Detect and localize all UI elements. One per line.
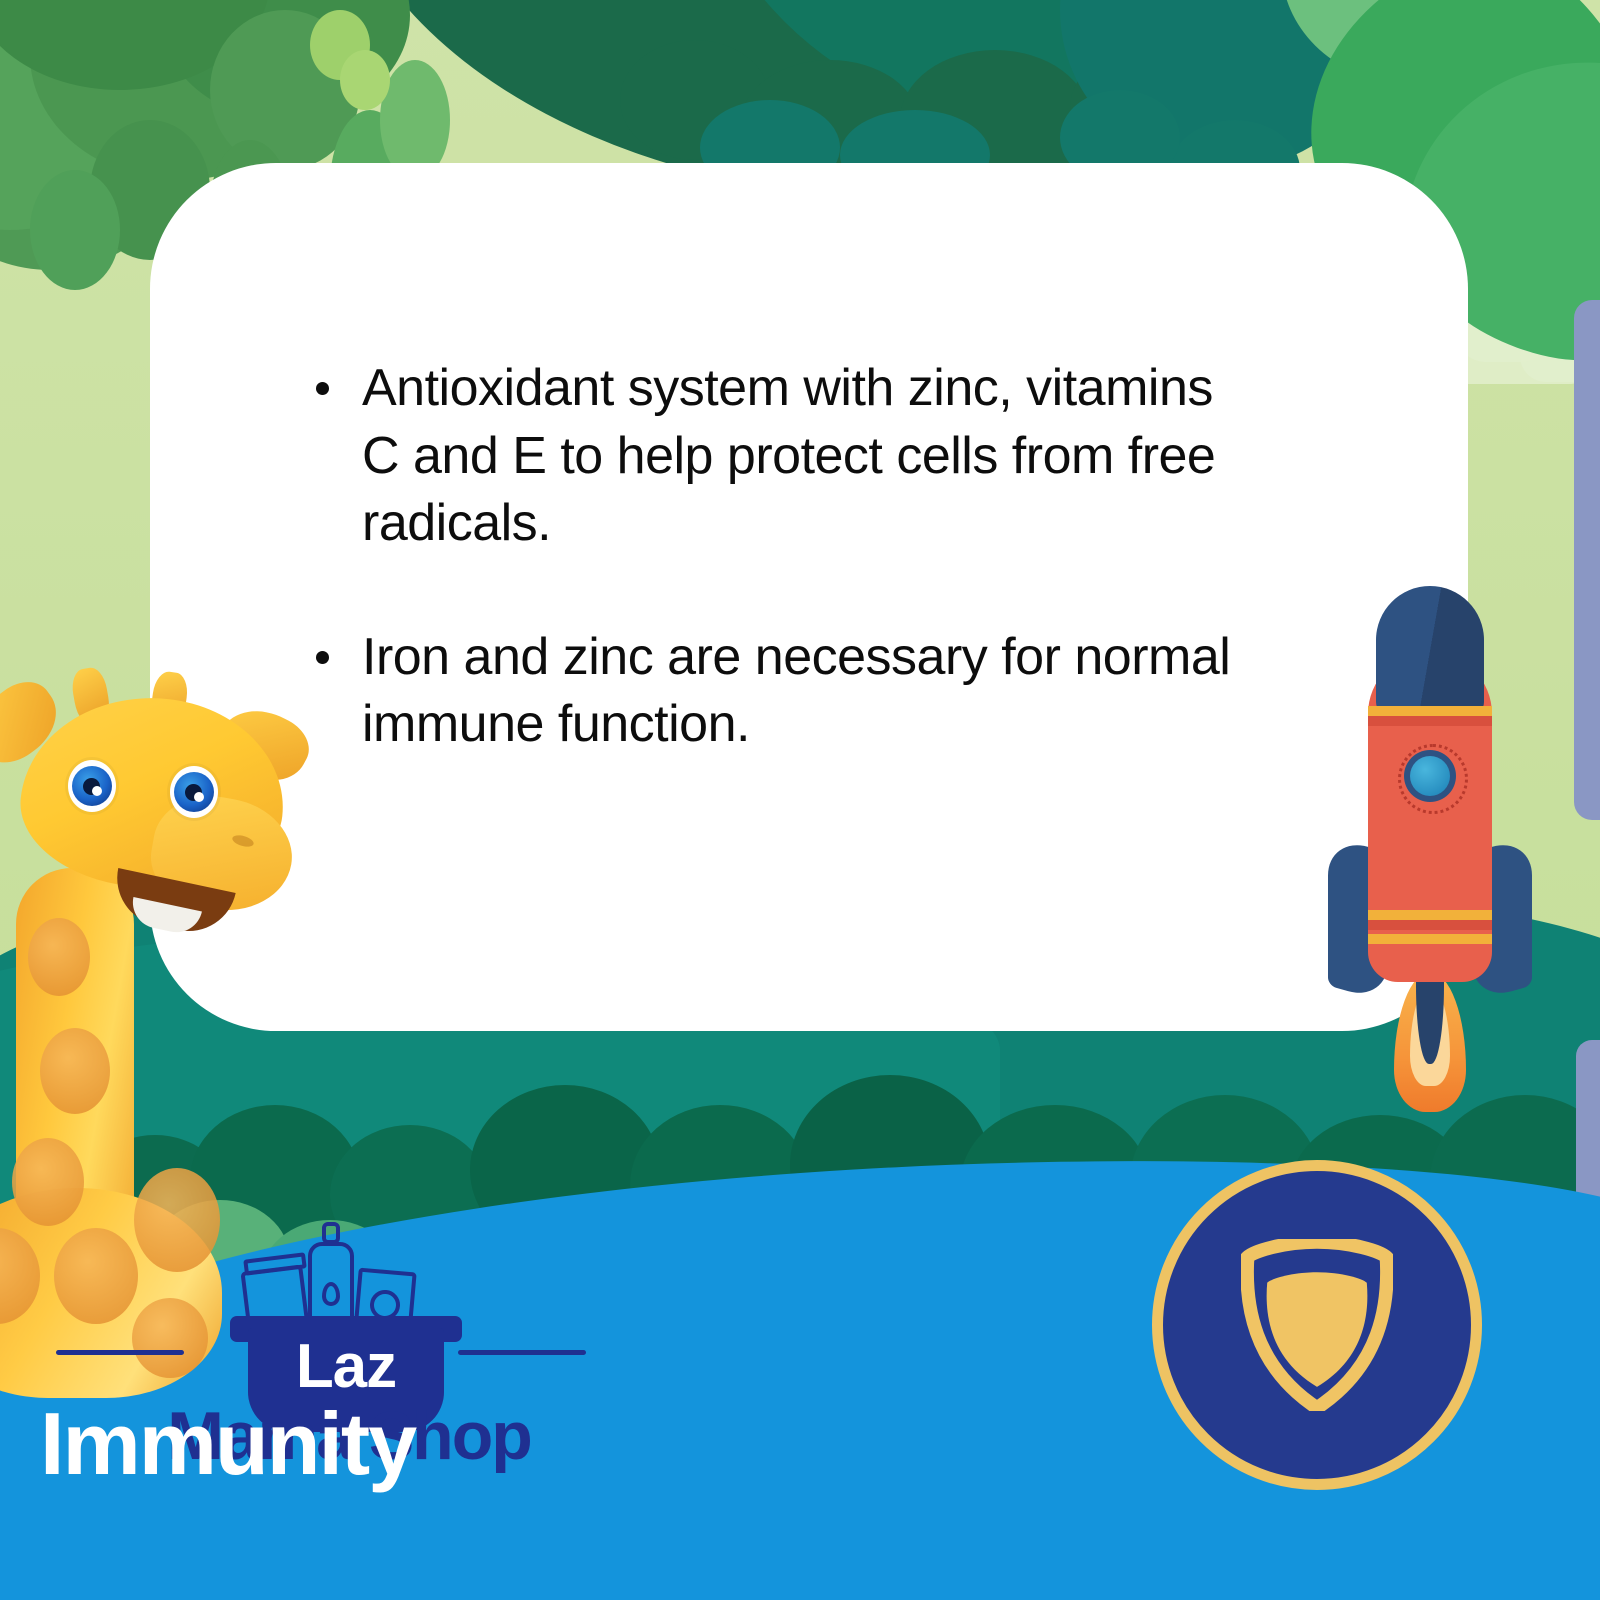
basket-label: Laz <box>248 1336 444 1398</box>
benefit-bullet-1: Antioxidant system with zinc, vitamins C… <box>310 355 1260 558</box>
logo-divider-left <box>56 1350 184 1355</box>
logo-divider-right <box>458 1350 586 1355</box>
bullet-dot-icon <box>316 651 329 664</box>
rocket-porthole-glass <box>1410 756 1450 796</box>
rocket-illustration <box>1320 594 1540 1084</box>
right-edge-accent <box>1574 300 1600 820</box>
rocket-nose-cone <box>1376 586 1484 716</box>
card-text-block: Antioxidant system with zinc, vitamins C… <box>310 355 1260 759</box>
giraffe-eye <box>170 766 218 818</box>
bullet-dot-icon <box>316 382 329 395</box>
immunity-shield-badge <box>1152 1160 1482 1490</box>
water-drop-icon <box>322 1282 340 1306</box>
benefits-list: Antioxidant system with zinc, vitamins C… <box>310 355 1260 759</box>
benefit-text: Iron and zinc are necessary for normal i… <box>362 628 1230 754</box>
campaign-title: Immunity <box>40 1400 680 1488</box>
giraffe-eye <box>68 760 116 812</box>
benefit-bullet-2: Iron and zinc are necessary for normal i… <box>310 624 1260 759</box>
shield-icon <box>1241 1239 1393 1411</box>
infographic-canvas: Antioxidant system with zinc, vitamins C… <box>0 0 1600 1600</box>
benefit-text: Antioxidant system with zinc, vitamins C… <box>362 359 1215 552</box>
pump-head-icon <box>322 1222 340 1244</box>
